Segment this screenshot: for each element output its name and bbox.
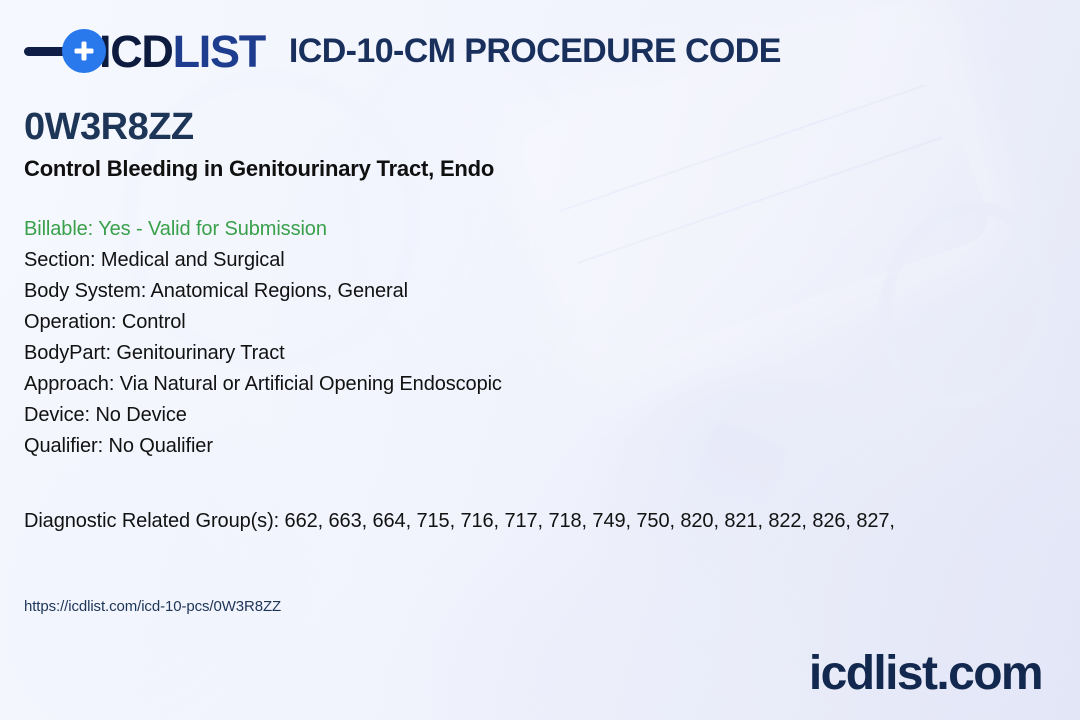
attribute-device: Device: No Device [24, 400, 1080, 431]
page-header: ICDLIST ICD-10-CM PROCEDURE CODE [24, 22, 781, 80]
procedure-code-description: Control Bleeding in Genitourinary Tract,… [24, 156, 1080, 182]
plus-circle-icon [62, 29, 106, 73]
procedure-code-card: 0W3R8ZZ Control Bleeding in Genitourinar… [24, 106, 1080, 537]
page-title: ICD-10-CM PROCEDURE CODE [289, 32, 781, 71]
footer-brand-wordmark: icdlist.com [809, 650, 1042, 698]
logo-wordmark-primary: ICD [99, 26, 173, 77]
status-badge-billable: Billable: Yes - Valid for Submission [24, 214, 1080, 245]
logo-wordmark-secondary: LIST [173, 26, 265, 77]
attribute-qualifier: Qualifier: No Qualifier [24, 431, 1080, 462]
attribute-body-system: Body System: Anatomical Regions, General [24, 276, 1080, 307]
logo-wordmark: ICDLIST [99, 29, 265, 74]
procedure-attribute-list: Billable: Yes - Valid for Submission Sec… [24, 214, 1080, 462]
attribute-body-part: BodyPart: Genitourinary Tract [24, 338, 1080, 369]
attribute-approach: Approach: Via Natural or Artificial Open… [24, 369, 1080, 400]
diagnostic-related-groups: Diagnostic Related Group(s): 662, 663, 6… [24, 506, 1080, 537]
attribute-operation: Operation: Control [24, 307, 1080, 338]
icdlist-logo[interactable]: ICDLIST [24, 29, 265, 74]
source-url-text[interactable]: https://icdlist.com/icd-10-pcs/0W3R8ZZ [24, 598, 281, 615]
procedure-code-value: 0W3R8ZZ [24, 106, 1080, 149]
page-root: ICDLIST ICD-10-CM PROCEDURE CODE 0W3R8ZZ… [0, 0, 1080, 720]
attribute-section: Section: Medical and Surgical [24, 245, 1080, 276]
